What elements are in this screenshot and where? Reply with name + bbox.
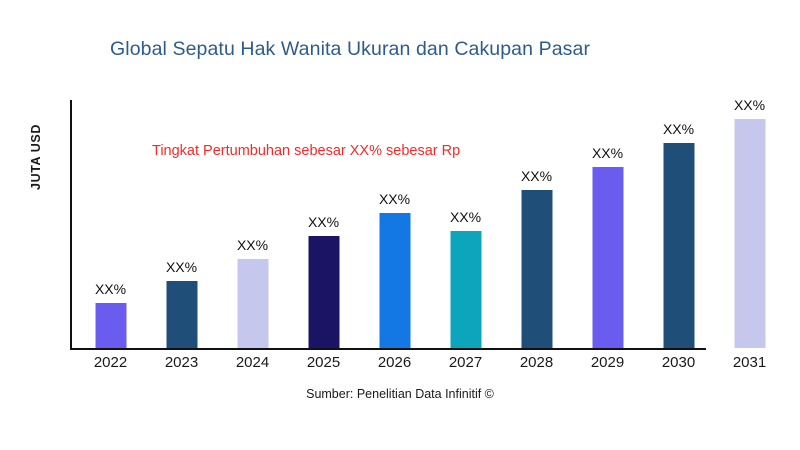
bar-group: XX% [217,100,288,348]
bar[interactable] [521,190,552,348]
bar[interactable] [592,167,623,348]
bar-value-label: XX% [450,209,481,225]
bar-group: XX% [643,100,714,348]
y-axis-label: JUTA USD [29,107,43,207]
bar-group: XX% [714,100,785,348]
bar[interactable] [734,119,765,348]
bar[interactable] [166,281,197,348]
bar-group: XX% [430,100,501,348]
bar-group: XX% [572,100,643,348]
bar-group: XX% [75,100,146,348]
bar[interactable] [450,231,481,348]
bar-group: XX% [146,100,217,348]
source-note: Sumber: Penelitian Data Infinitif © [0,387,800,401]
plot-area: Tingkat Pertumbuhan sebesar XX% sebesar … [70,100,785,348]
bar-group: XX% [288,100,359,348]
bar-group: XX% [501,100,572,348]
bar-value-label: XX% [592,145,623,161]
bar-value-label: XX% [734,97,765,113]
bar[interactable] [663,143,694,348]
x-tick-label: 2022 [75,354,146,371]
bar-group: XX% [359,100,430,348]
bar[interactable] [308,236,339,348]
bar[interactable] [237,259,268,348]
x-tick-label: 2030 [643,354,714,371]
chart-title: Global Sepatu Hak Wanita Ukuran dan Caku… [110,38,590,61]
bar-value-label: XX% [521,168,552,184]
x-tick-label: 2027 [430,354,501,371]
bar-value-label: XX% [95,281,126,297]
y-axis-line [70,100,72,348]
bar-value-label: XX% [308,214,339,230]
x-tick-label: 2023 [146,354,217,371]
x-axis-line [70,348,706,350]
chart-container: Global Sepatu Hak Wanita Ukuran dan Caku… [0,0,800,450]
bar[interactable] [379,213,410,348]
x-tick-label: 2026 [359,354,430,371]
x-tick-label: 2031 [714,354,785,371]
x-tick-label: 2024 [217,354,288,371]
bar-value-label: XX% [237,237,268,253]
x-tick-label: 2025 [288,354,359,371]
x-tick-label: 2029 [572,354,643,371]
bar-value-label: XX% [663,121,694,137]
x-tick-label: 2028 [501,354,572,371]
bar-value-label: XX% [166,259,197,275]
bar-value-label: XX% [379,191,410,207]
bar[interactable] [95,303,126,348]
